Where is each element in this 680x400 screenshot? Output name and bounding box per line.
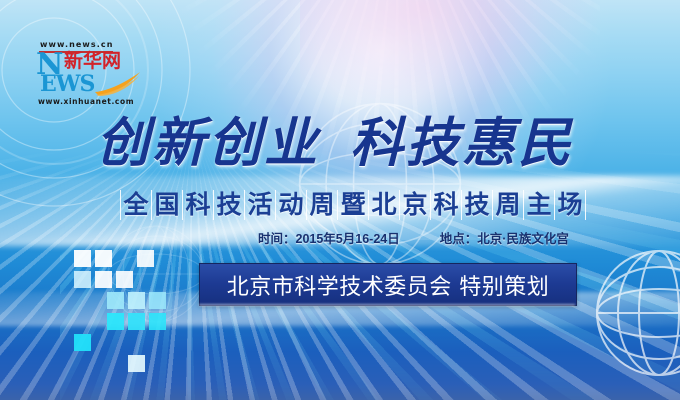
subtitle-char-6: 周 — [306, 190, 337, 220]
organizer-banner-bar[interactable]: 北京市科学技术委员会 特别策划 — [199, 263, 577, 306]
subtitle-char-13: 主 — [523, 190, 554, 220]
mosaic-square-13 — [128, 355, 145, 372]
subtitle-char-3: 技 — [213, 190, 244, 220]
subtitle-char-12: 周 — [492, 190, 523, 220]
organizer-banner-text: 北京市科学技术委员会 特别策划 — [227, 269, 550, 301]
pink-haze-glow — [300, 0, 600, 110]
subtitle-char-0: 全 — [120, 190, 151, 220]
mosaic-square-11 — [149, 313, 166, 330]
subtitle-char-4: 活 — [244, 190, 275, 220]
subtitle-char-8: 北 — [368, 190, 399, 220]
mosaic-square-9 — [107, 313, 124, 330]
xinhua-news-banner: www.news.cn N 新华网 EWS www.xinhuanet.com … — [0, 0, 680, 400]
mosaic-square-1 — [95, 250, 112, 267]
subtitle-char-9: 京 — [399, 190, 430, 220]
subtitle-char-1: 国 — [151, 190, 182, 220]
logo-bottom-url: www.xinhuanet.com — [38, 97, 134, 106]
mosaic-square-8 — [149, 292, 166, 309]
mosaic-square-0 — [74, 250, 91, 267]
subtitle-char-10: 科 — [430, 190, 461, 220]
main-title: 创新创业科技惠民 — [96, 112, 596, 174]
concentric-circles-decoration — [0, 0, 204, 220]
mosaic-square-3 — [74, 271, 91, 288]
logo-chinese-name: 新华网 — [64, 52, 121, 72]
event-time: 时间：2015年5月16-24日 — [258, 228, 400, 247]
mosaic-square-10 — [128, 313, 145, 330]
mosaic-squares-decoration — [74, 250, 194, 370]
logo-swoosh-icon — [94, 70, 142, 96]
globe-wireframe-right-icon — [584, 238, 680, 388]
mosaic-square-4 — [95, 271, 112, 288]
mosaic-square-5 — [116, 271, 133, 288]
subtitle-char-7: 暨 — [337, 190, 368, 220]
subtitle-char-5: 动 — [275, 190, 306, 220]
event-meta-line: 时间：2015年5月16-24日 地点：北京·民族文化宫 — [258, 228, 598, 246]
mosaic-square-7 — [128, 292, 145, 309]
subtitle-char-14: 场 — [554, 190, 586, 220]
subtitle-char-11: 技 — [461, 190, 492, 220]
main-title-part2: 科技惠民 — [350, 112, 574, 174]
event-place: 地点：北京·民族文化宫 — [440, 228, 569, 247]
subtitle-char-2: 科 — [182, 190, 213, 220]
subtitle-strip: 全国科技活动周暨北京科技周主场 — [120, 190, 586, 220]
logo-letters-ews: EWS — [40, 73, 94, 95]
mosaic-square-2 — [137, 250, 154, 267]
main-title-part1: 创新创业 — [96, 112, 320, 174]
organizer-bar-underline — [199, 304, 575, 306]
mosaic-square-6 — [107, 292, 124, 309]
xinhua-logo[interactable]: www.news.cn N 新华网 EWS www.xinhuanet.com — [34, 40, 138, 108]
mosaic-square-12 — [74, 334, 91, 351]
